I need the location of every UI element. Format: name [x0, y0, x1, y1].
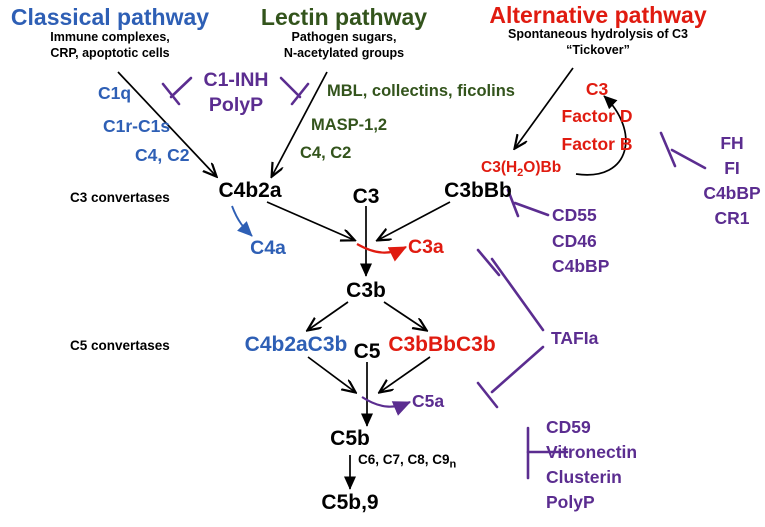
label-polyp-early: PolyP: [209, 95, 263, 115]
label-factor-d: Factor D: [562, 107, 633, 125]
header-classical-pathway: Classical pathway: [11, 5, 209, 29]
label-fi: FI: [724, 159, 740, 177]
arrow-c3bbbc3b-to-c5-cleavage: [380, 357, 430, 392]
row-label-c3-convertases: C3 convertases: [70, 191, 170, 205]
label-c5b: C5b: [330, 428, 370, 450]
label-c3b: C3b: [346, 280, 386, 302]
header-lectin-pathway: Lectin pathway: [261, 5, 427, 29]
label-c1-inh: C1-INH: [203, 70, 268, 90]
label-c3bbb: C3bBb: [444, 180, 512, 202]
inhibition-line-fluidphase: [672, 150, 705, 168]
subtitle-lectin-line1: Pathogen sugars,: [292, 31, 397, 44]
inhibition-bar-tafia-c5a: [478, 383, 497, 407]
label-c4b2ac3b: C4b2aC3b: [245, 334, 348, 356]
label-tafia: TAFIa: [551, 329, 598, 347]
inhibition-line-decay-c3bbb: [515, 203, 548, 215]
arrow-c4b2a-to-c4a: [232, 206, 252, 236]
subtitle-classical-line2: CRP, apoptotic cells: [50, 47, 169, 60]
label-classical-c4-c2: C4, C2: [135, 146, 189, 164]
pathway-arrows-layer: [0, 0, 765, 527]
label-fh: FH: [720, 134, 743, 152]
label-c3: C3: [353, 186, 380, 208]
inhibition-bar-tafia-c3a: [478, 250, 499, 275]
label-c5a: C5a: [412, 392, 444, 410]
subtitle-alternative-line1: Spontaneous hydrolysis of C3: [508, 28, 688, 41]
inhibition-bar-c1inh-lectin: [292, 84, 308, 104]
inhibition-line-c1inh-lectin: [281, 78, 300, 97]
header-alternative-pathway: Alternative pathway: [489, 3, 706, 27]
label-c4a: C4a: [250, 238, 286, 258]
inhibition-bar-c1inh-classical: [163, 84, 179, 104]
label-clusterin: Clusterin: [546, 468, 622, 486]
arrow-c4b2a-to-c3-cleavage: [267, 202, 354, 240]
label-c4bbp-fluid: C4bBP: [703, 184, 760, 202]
label-lectin-c4-c2: C4, C2: [300, 145, 351, 162]
arrow-c3bbb-to-c3-cleavage: [378, 202, 450, 240]
subtitle-alternative-line2: “Tickover”: [566, 44, 630, 57]
arrow-c5-to-c5a: [362, 397, 410, 407]
label-terminal-components: C6, C7, C8, C9n: [358, 453, 456, 471]
label-c5b9: C5b,9: [321, 492, 378, 514]
label-mbl-collectins-ficolins: MBL, collectins, ficolins: [327, 83, 515, 100]
row-label-c5-convertases: C5 convertases: [70, 339, 170, 353]
inhibition-line-c1inh-classical: [171, 78, 191, 97]
label-c4b2a: C4b2a: [218, 180, 281, 202]
subtitle-classical-line1: Immune complexes,: [50, 31, 170, 44]
arrow-c3b-to-c3bbbc3b: [384, 302, 426, 330]
subtitle-lectin-line2: N-acetylated groups: [284, 47, 404, 60]
label-cr1: CR1: [714, 209, 749, 227]
inhibition-line-tafia-c5a: [492, 347, 543, 392]
label-vitronectin: Vitronectin: [546, 443, 637, 461]
complement-pathway-diagram: Classical pathway Immune complexes, CRP,…: [0, 0, 765, 527]
label-c5: C5: [354, 341, 381, 363]
label-cd46: CD46: [552, 232, 597, 250]
label-c1q: C1q: [98, 84, 131, 102]
label-alternative-c3: C3: [586, 80, 608, 98]
arrow-c3-to-c3a: [357, 244, 406, 253]
label-cd59: CD59: [546, 418, 591, 436]
inhibition-bar-fluidphase: [661, 133, 675, 166]
label-c1r-c1s: C1r-C1s: [103, 117, 170, 135]
inhibition-line-tafia-c3a: [492, 259, 543, 330]
label-factor-b: Factor B: [562, 135, 633, 153]
label-masp: MASP-1,2: [311, 117, 387, 134]
label-polyp-mac: PolyP: [546, 493, 595, 511]
label-cd55: CD55: [552, 206, 597, 224]
label-c3h2obb: C3(H2O)Bb: [481, 160, 561, 180]
label-c3bbbc3b: C3bBbC3b: [388, 334, 495, 356]
arrow-c3b-to-c4b2ac3b: [308, 302, 348, 330]
arrow-c4b2ac3b-to-c5-cleavage: [308, 357, 355, 392]
label-c4bbp-decay: C4bBP: [552, 257, 609, 275]
label-c3a: C3a: [408, 237, 444, 257]
